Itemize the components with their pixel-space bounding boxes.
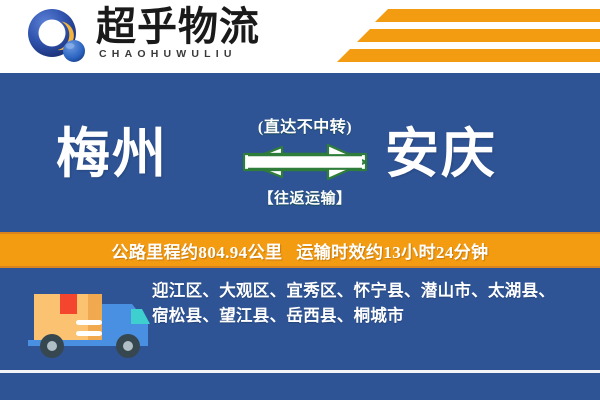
header-stripes-decoration [340,0,600,73]
bottom-divider [0,370,600,373]
round-trip-note: 【往返运输】 [220,187,390,208]
delivery-truck-icon [20,276,152,364]
origin-city: 梅州 [56,109,168,188]
coverage-line-2: 宿松县、望江县、岳西县、桐城市 [152,303,588,328]
brand-name-en: CHAOHUWULIU [99,48,237,60]
logistics-route-banner: 超乎物流 CHAOHUWULIU 梅州 (直达不中转) 【往返 [0,0,600,400]
stripe-2 [370,29,600,42]
duration-text: 运输时效约13小时24分钟 [296,238,488,263]
stripe-3 [350,49,600,62]
coverage-area-list: 迎江区、大观区、宜秀区、怀宁县、潜山市、太湖县、 宿松县、望江县、岳西县、桐城市 [152,278,588,328]
coverage-line-1: 迎江区、大观区、宜秀区、怀宁县、潜山市、太湖县、 [152,278,588,303]
stripe-1 [388,9,600,22]
route-middle-group: (直达不中转) 【往返运输】 [220,113,390,223]
destination-city: 安庆 [385,109,497,188]
route-panel: 梅州 (直达不中转) 【往返运输】 安庆 [0,73,600,232]
brand-name-cn: 超乎物流 [96,6,260,48]
direct-route-note: (直达不中转) [220,113,390,137]
chaohu-q-logo-icon [22,8,94,66]
route-info-bar: 公路里程约804.94公里 运输时效约13小时24分钟 [0,232,600,268]
distance-text: 公路里程约804.94公里 [111,238,282,263]
bidirectional-arrow-icon [220,143,390,183]
banner-header: 超乎物流 CHAOHUWULIU [0,0,600,73]
